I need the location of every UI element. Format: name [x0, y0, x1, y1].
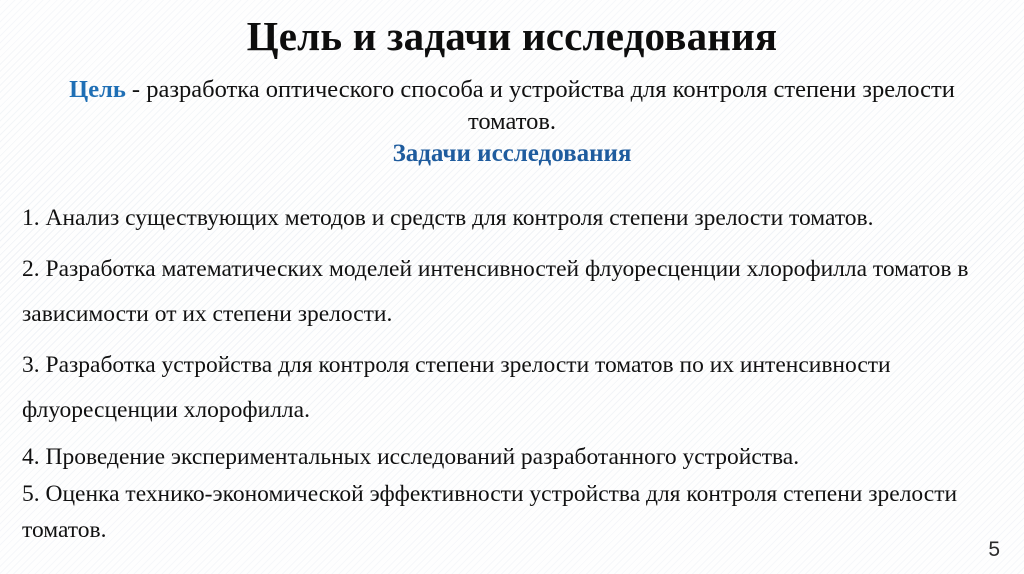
- goal-text: разработка оптического способа и устройс…: [146, 76, 955, 135]
- goal-paragraph: Цель - разработка оптического способа и …: [26, 74, 998, 139]
- task-item-2: 2. Разработка математических моделей инт…: [22, 247, 1002, 337]
- goal-label: Цель: [69, 76, 126, 103]
- tasks-heading: Задачи исследования: [0, 139, 1024, 169]
- tasks-list: 1. Анализ существующих методов и средств…: [22, 196, 1002, 551]
- task-item-4: 4. Проведение экспериментальных исследов…: [22, 440, 1002, 476]
- page-number: 5: [988, 538, 1000, 562]
- page-title: Цель и задачи исследования: [0, 14, 1024, 58]
- task-item-3: 3. Разработка устройства для контроля ст…: [22, 343, 1002, 433]
- task-item-5: 5. Оценка технико-экономической эффектив…: [22, 477, 1002, 548]
- slide-canvas: Цель и задачи исследования Цель - разраб…: [0, 0, 1024, 574]
- goal-separator: -: [126, 76, 146, 103]
- task-item-1: 1. Анализ существующих методов и средств…: [22, 196, 1002, 241]
